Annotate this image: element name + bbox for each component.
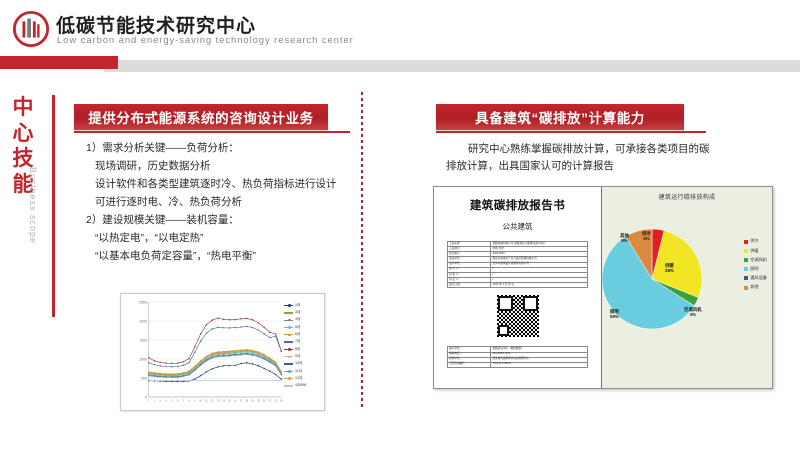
legend-marker (288, 385, 290, 387)
svg-text:3: 3 (160, 398, 162, 402)
legend-item: 其他 (744, 283, 767, 292)
legend-item: 10月 (284, 360, 322, 367)
svg-text:13: 13 (217, 398, 220, 402)
legend-item: 4300W (284, 382, 322, 389)
legend-item: 3月 (284, 309, 322, 316)
right-body-line-1: 研究中心熟练掌握碳排放计算，可承接各类项目的碳 (446, 141, 768, 158)
svg-text:14: 14 (222, 398, 225, 402)
legend-label: 5月 (295, 326, 301, 330)
column-divider (361, 92, 363, 410)
svg-text:8: 8 (188, 398, 190, 402)
table-row: 工程咨询编号：TJ0275-CN2227 (448, 362, 588, 367)
report-info-table-top: 工程名称：低碳科技有限公司·新能源及节能降低运行中心工程地点：中国·天津报告编号… (447, 241, 588, 288)
legend-item: 供暖 (744, 246, 767, 255)
svg-text:9: 9 (194, 398, 196, 402)
legend-label: 4300W (295, 384, 306, 388)
load-line-chart: 0500100015002000250012345678910111213141… (120, 293, 325, 411)
legend-label: 11月 (295, 370, 302, 374)
left-body-line-6: “以热定电”，“以电定热” (86, 230, 358, 247)
header-title-en: Low carbon and energy-saving technology … (57, 35, 354, 46)
pie-callout: 照明59% (610, 309, 619, 320)
left-body-line-4: 可进行逐时电、冷、热负荷分析 (86, 194, 358, 211)
svg-text:23: 23 (274, 398, 277, 402)
qr-code-icon (497, 295, 539, 337)
legend-item: 6月 (284, 331, 322, 338)
legend-item: 空调风机 (744, 255, 767, 264)
carbon-pie-legend: 供冷供暖空调风机照明通风设备其他 (744, 237, 767, 292)
legend-marker (288, 341, 290, 343)
legend-swatch (744, 249, 748, 253)
svg-text:4: 4 (165, 398, 167, 402)
legend-item: 通风设备 (744, 274, 767, 283)
pie-callout-pct: 28% (665, 268, 674, 273)
legend-item: 9月 (284, 353, 322, 360)
legend-swatch (744, 240, 748, 244)
legend-label: 照明 (750, 267, 758, 271)
legend-marker (288, 348, 290, 350)
svg-text:24: 24 (280, 398, 283, 402)
legend-label: 其他 (750, 285, 758, 289)
svg-text:2: 2 (154, 398, 156, 402)
left-body-line-2: 现场调研，历史数据分析 (86, 158, 358, 175)
report-info-table-bottom: 编写单位：低碳研究中心（碳排放组）联系电话：022-8888-1234核验单位：… (447, 346, 588, 368)
legend-label: 9月 (295, 355, 301, 359)
svg-text:16: 16 (234, 398, 237, 402)
legend-marker (288, 363, 290, 365)
svg-text:21: 21 (263, 398, 266, 402)
legend-label: 供冷 (750, 239, 758, 243)
carbon-pie-pane: 建筑运行碳排放构成 供冷供暖空调风机照明通风设备其他 供冷4%供暖28%空调风机… (602, 187, 772, 388)
pie-callout: 供暖28% (665, 263, 674, 274)
legend-item: 1月 (284, 302, 322, 309)
svg-text:20: 20 (257, 398, 260, 402)
legend-marker (288, 326, 290, 328)
pie-callout: 其他9% (620, 233, 629, 244)
svg-text:22: 22 (268, 398, 271, 402)
header-gray-bar (104, 60, 800, 72)
svg-text:19: 19 (251, 398, 254, 402)
legend-item: 11月 (284, 368, 322, 375)
legend-label: 6月 (295, 333, 301, 337)
legend-item: 12月 (284, 375, 322, 382)
right-body-line-2: 排放计算，出具国家认可的计算报告 (446, 158, 768, 175)
left-panel-title-underline (74, 131, 350, 133)
load-line-chart-legend: 1月3月4月5月6月7月8月9月10月11月12月4300W (284, 302, 322, 390)
legend-label: 通风设备 (750, 276, 767, 280)
legend-label: 12月 (295, 377, 303, 381)
report-subtitle: 公共建筑 (444, 221, 591, 232)
legend-swatch (744, 276, 748, 280)
slide-canvas: 低碳节能技术研究中心 Low carbon and energy-saving … (0, 0, 800, 451)
legend-label: 10月 (295, 362, 303, 366)
legend-label: 1月 (295, 304, 301, 308)
table-cell-key: 报告日期： (448, 283, 491, 288)
legend-swatch (744, 267, 748, 271)
report-document-pane: 建筑碳排放报告书 公共建筑 工程名称：低碳科技有限公司·新能源及节能降低运行中心… (434, 187, 602, 388)
legend-swatch (744, 258, 748, 262)
svg-text:18: 18 (245, 398, 248, 402)
right-panel-title: 具备建筑“碳排放”计算能力 (436, 104, 684, 130)
right-panel-title-underline (436, 131, 706, 133)
legend-label: 4月 (295, 318, 301, 322)
pie-callout-pct: 4% (642, 236, 651, 241)
legend-item: 4月 (284, 317, 322, 324)
legend-item: 照明 (744, 265, 767, 274)
legend-marker (288, 356, 290, 358)
legend-label: 3月 (295, 311, 301, 315)
svg-text:1: 1 (148, 398, 150, 402)
pie-callout-pct: 3% (684, 312, 702, 317)
svg-text:0: 0 (145, 396, 147, 400)
table-cell-key: 工程咨询编号： (448, 362, 491, 367)
table-cell-value: 2022 年 3 月 18 日 (491, 283, 588, 288)
left-body-line-7: “以基本电负荷定容量”，“热电平衡” (86, 248, 358, 265)
report-screenshot-card: 建筑碳排放报告书 公共建筑 工程名称：低碳科技有限公司·新能源及节能降低运行中心… (433, 186, 773, 389)
table-row: 报告日期：2022 年 3 月 18 日 (448, 283, 588, 288)
svg-text:1000: 1000 (139, 358, 147, 362)
pie-callout-pct: 9% (620, 238, 629, 243)
svg-text:12: 12 (211, 398, 214, 402)
left-panel-title: 提供分布式能源系统的咨询设计业务 (74, 104, 328, 130)
legend-marker (288, 370, 290, 372)
header-red-bar (0, 56, 118, 69)
header-title-cn: 低碳节能技术研究中心 (56, 11, 256, 38)
table-cell-value: TJ0275-CN2227 (491, 362, 588, 367)
svg-text:6: 6 (177, 398, 179, 402)
legend-label: 7月 (295, 340, 301, 344)
pie-callout: 供冷4% (642, 231, 651, 242)
report-title: 建筑碳排放报告书 (444, 197, 591, 213)
svg-text:500: 500 (141, 377, 147, 381)
legend-marker (288, 304, 290, 306)
legend-item: 供冷 (744, 237, 767, 246)
legend-marker (288, 334, 290, 336)
company-circle-logo-icon (12, 10, 50, 48)
left-body-line-1: 1）需求分析关键——负荷分析： (86, 140, 358, 157)
pie-callout-pct: 59% (610, 314, 619, 319)
svg-text:1500: 1500 (139, 339, 147, 343)
right-panel-body: 研究中心熟练掌握碳排放计算，可承接各类项目的碳 排放计算，出具国家认可的计算报告 (446, 141, 768, 175)
left-body-line-5: 2）建设规模关键——装机容量： (86, 212, 358, 229)
legend-label: 空调风机 (750, 258, 767, 262)
svg-text:5: 5 (171, 398, 173, 402)
side-tab: 中心技能 Business scope (8, 95, 52, 275)
side-tab-rule (52, 95, 55, 317)
svg-text:11: 11 (205, 398, 208, 402)
legend-label: 8月 (295, 348, 301, 352)
svg-text:2500: 2500 (139, 301, 147, 305)
left-panel-body: 1）需求分析关键——负荷分析： 现场调研，历史数据分析 设计软件和各类型建筑逐时… (86, 140, 358, 266)
legend-item: 8月 (284, 346, 322, 353)
legend-label: 供暖 (750, 249, 758, 253)
left-body-line-3: 设计软件和各类型建筑逐时冷、热负荷指标进行设计 (86, 176, 358, 193)
legend-marker (288, 377, 290, 379)
svg-text:10: 10 (199, 398, 202, 402)
svg-text:2000: 2000 (139, 320, 147, 324)
legend-item: 5月 (284, 324, 322, 331)
legend-marker (288, 319, 290, 321)
legend-marker (288, 312, 290, 314)
svg-text:17: 17 (240, 398, 243, 402)
pie-callout: 空调风机3% (684, 307, 702, 318)
side-tab-label-en: Business scope (28, 167, 38, 244)
svg-text:7: 7 (183, 398, 185, 402)
legend-item: 7月 (284, 338, 322, 345)
svg-text:15: 15 (228, 398, 231, 402)
carbon-pie-title: 建筑运行碳排放构成 (602, 192, 772, 201)
legend-swatch (744, 286, 748, 290)
